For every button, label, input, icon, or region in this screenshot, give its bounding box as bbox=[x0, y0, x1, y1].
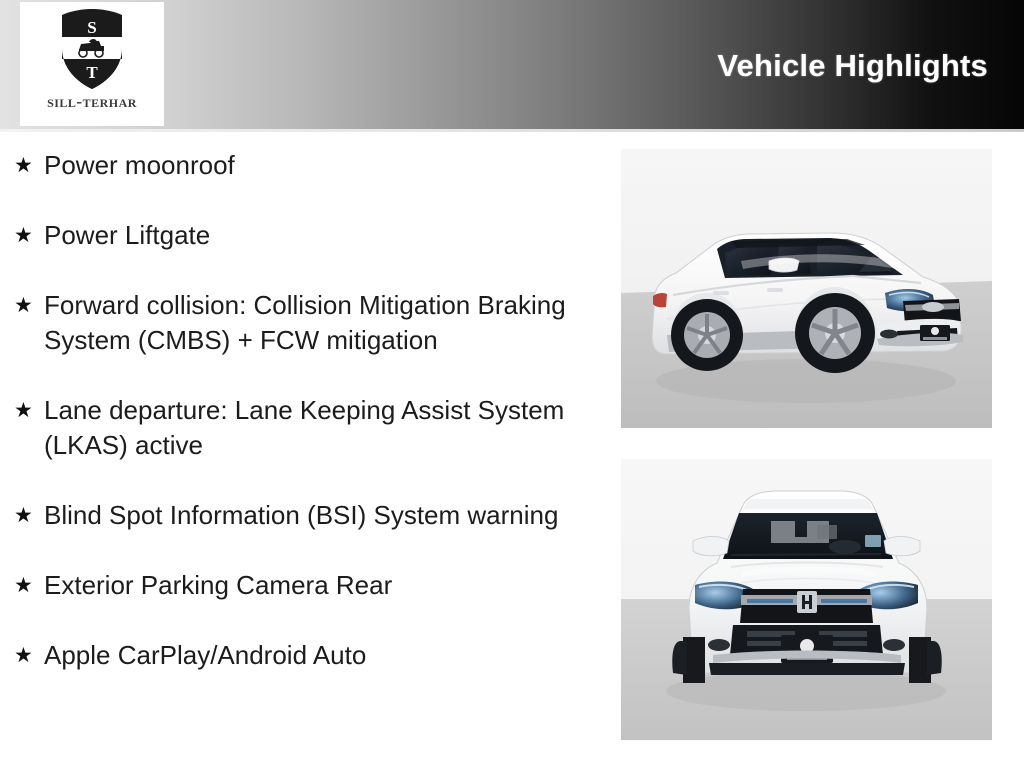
list-item: ★ Lane departure: Lane Keeping Assist Sy… bbox=[12, 393, 572, 463]
dealer-wordmark: Sill-TerHar bbox=[47, 93, 137, 110]
list-item: ★ Exterior Parking Camera Rear bbox=[12, 568, 572, 603]
list-item: ★ Power moonroof bbox=[12, 148, 572, 183]
header-underline-divider bbox=[0, 129, 1024, 132]
list-item-label: Blind Spot Information (BSI) System warn… bbox=[44, 498, 572, 533]
star-bullet-icon: ★ bbox=[14, 218, 33, 253]
star-bullet-icon: ★ bbox=[14, 638, 33, 673]
star-bullet-icon: ★ bbox=[14, 568, 33, 603]
list-item-label: Power moonroof bbox=[44, 148, 572, 183]
star-bullet-icon: ★ bbox=[14, 148, 33, 183]
star-bullet-icon: ★ bbox=[14, 288, 33, 323]
list-item: ★ Power Liftgate bbox=[12, 218, 572, 253]
list-item: ★ Forward collision: Collision Mitigatio… bbox=[12, 288, 572, 358]
list-item-label: Exterior Parking Camera Rear bbox=[44, 568, 572, 603]
page-title: Vehicle Highlights bbox=[717, 48, 988, 84]
list-item: ★ Blind Spot Information (BSI) System wa… bbox=[12, 498, 572, 533]
shield-vintage-car-icon: S T bbox=[59, 8, 125, 90]
list-item-label: Power Liftgate bbox=[44, 218, 572, 253]
vehicle-front-three-quarter-photo bbox=[621, 149, 992, 428]
vehicle-front-illustration bbox=[621, 459, 992, 740]
list-item: ★ Apple CarPlay/Android Auto bbox=[12, 638, 572, 673]
svg-text:S: S bbox=[87, 18, 96, 37]
list-item-label: Forward collision: Collision Mitigation … bbox=[44, 288, 572, 358]
star-bullet-icon: ★ bbox=[14, 498, 33, 533]
list-item-label: Apple CarPlay/Android Auto bbox=[44, 638, 572, 673]
star-bullet-icon: ★ bbox=[14, 393, 33, 428]
svg-text:T: T bbox=[86, 63, 98, 82]
vehicle-highlights-list: ★ Power moonroof ★ Power Liftgate ★ Forw… bbox=[12, 148, 572, 708]
list-item-label: Lane departure: Lane Keeping Assist Syst… bbox=[44, 393, 572, 463]
vehicle-front-photo bbox=[621, 459, 992, 740]
vehicle-front-three-quarter-illustration bbox=[621, 149, 992, 428]
dealer-logo: S T Sill-TerHar bbox=[20, 2, 164, 126]
